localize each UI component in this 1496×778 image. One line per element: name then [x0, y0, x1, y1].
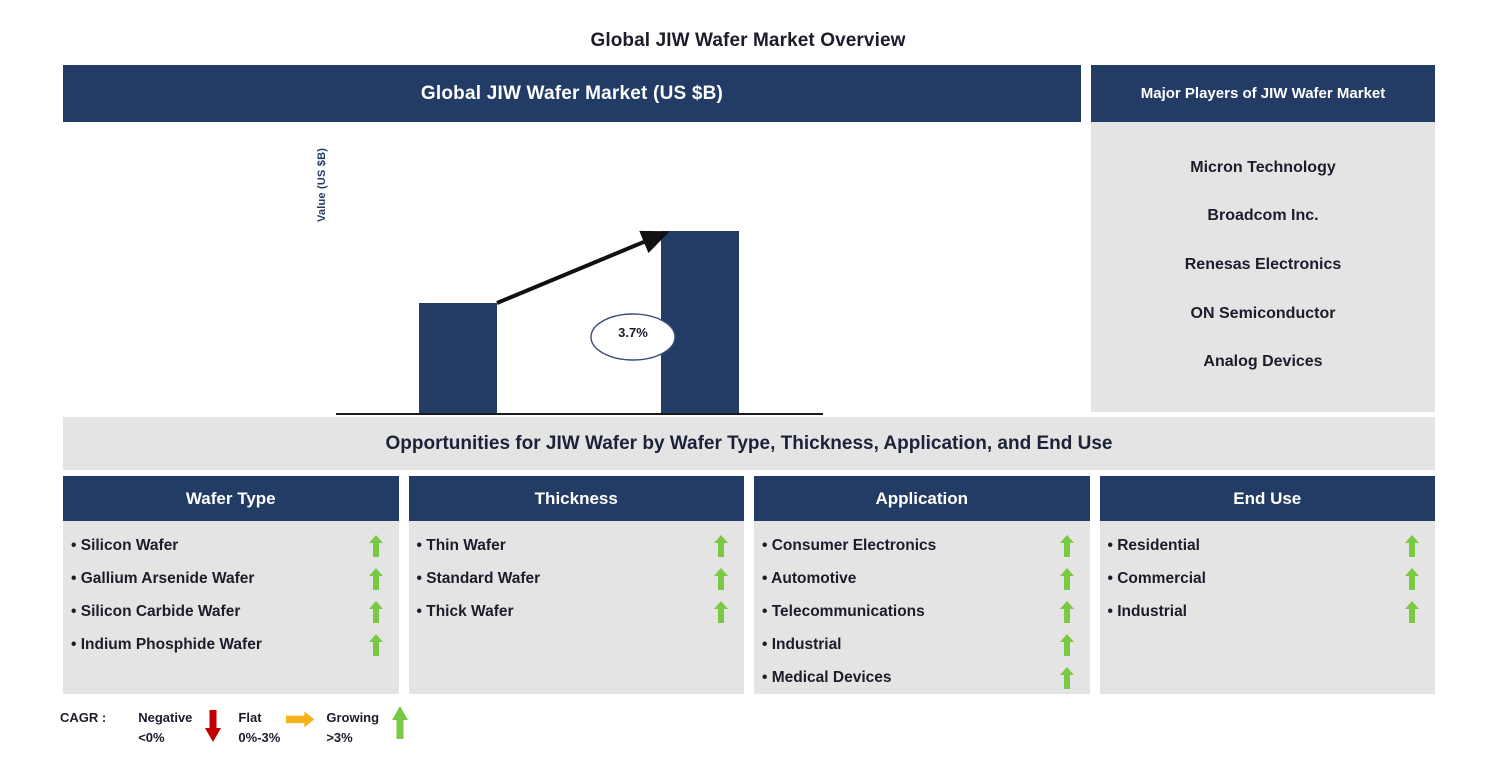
legend-entry-text: Growing >3%: [326, 706, 379, 748]
list-item: • Commercial: [1108, 562, 1424, 595]
legend-entry-negative: Negative <0%: [138, 706, 234, 748]
list-item: • Silicon Carbide Wafer: [71, 595, 387, 628]
segment-columns: Wafer Type • Silicon Wafer • Gallium Ars…: [63, 476, 1435, 694]
arrow-up-icon: [1060, 634, 1074, 656]
bar-2025: [419, 303, 497, 413]
legend-entry-name: Negative: [138, 708, 192, 728]
legend-entry-text: Negative <0%: [138, 706, 192, 748]
arrow-up-icon: [369, 634, 383, 656]
cagr-legend: CAGR : Negative <0% Flat 0%-3% Growing >…: [60, 706, 425, 748]
segment-item-list: • Consumer Electronics • Automotive • Te…: [754, 521, 1090, 694]
segment-item-label: • Silicon Carbide Wafer: [71, 595, 240, 628]
segment-header: End Use: [1100, 476, 1436, 521]
list-item: Renesas Electronics: [1185, 256, 1342, 274]
arrow-down-icon: [198, 706, 228, 742]
list-item: • Industrial: [1108, 595, 1424, 628]
legend-entry-growing: Growing >3%: [326, 706, 421, 748]
legend-entry-name: Growing: [326, 708, 379, 728]
arrow-up-icon: [1060, 568, 1074, 590]
segment-item-label: • Standard Wafer: [417, 562, 541, 595]
list-item: • Telecommunications: [762, 595, 1078, 628]
segment-item-label: • Automotive: [762, 562, 856, 595]
segment-column-application: Application • Consumer Electronics • Aut…: [754, 476, 1090, 694]
segment-item-label: • Industrial: [762, 628, 842, 661]
segment-item-list: • Thin Wafer • Standard Wafer • Thick Wa…: [409, 521, 745, 694]
segment-item-label: • Thick Wafer: [417, 595, 514, 628]
list-item: ON Semiconductor: [1191, 305, 1336, 323]
legend-entry-range: 0%-3%: [238, 728, 280, 748]
arrow-up-icon: [714, 535, 728, 557]
segment-item-label: • Silicon Wafer: [71, 529, 178, 562]
segment-item-label: • Thin Wafer: [417, 529, 506, 562]
arrow-up-icon: [1060, 535, 1074, 557]
arrow-up-icon: [1405, 568, 1419, 590]
segment-column-end-use: End Use • Residential • Commercial • Ind…: [1100, 476, 1436, 694]
legend-entry-range: <0%: [138, 728, 192, 748]
legend-title: CAGR :: [60, 706, 106, 728]
arrow-up-icon: [1405, 601, 1419, 623]
list-item: Analog Devices: [1203, 353, 1322, 371]
list-item: • Industrial: [762, 628, 1078, 661]
segment-column-wafer-type: Wafer Type • Silicon Wafer • Gallium Ars…: [63, 476, 399, 694]
segment-item-label: • Medical Devices: [762, 661, 892, 694]
segment-item-label: • Commercial: [1108, 562, 1206, 595]
chart-y-axis-label: Value (US $B): [316, 148, 328, 222]
major-players-panel: Major Players of JIW Wafer Market Micron…: [1091, 65, 1435, 412]
bar-2031: [661, 231, 739, 413]
list-item: • Gallium Arsenide Wafer: [71, 562, 387, 595]
opportunities-band: Opportunities for JIW Wafer by Wafer Typ…: [63, 417, 1435, 470]
legend-entry-text: Flat 0%-3%: [238, 706, 280, 748]
segment-item-label: • Gallium Arsenide Wafer: [71, 562, 254, 595]
major-players-header: Major Players of JIW Wafer Market: [1091, 65, 1435, 122]
opportunities-title: Opportunities for JIW Wafer by Wafer Typ…: [385, 433, 1112, 455]
segment-header: Thickness: [409, 476, 745, 521]
segment-item-label: • Consumer Electronics: [762, 529, 936, 562]
arrow-up-icon: [1060, 601, 1074, 623]
segment-item-label: • Industrial: [1108, 595, 1188, 628]
major-players-list: Micron Technology Broadcom Inc. Renesas …: [1091, 122, 1435, 412]
arrow-up-icon: [369, 535, 383, 557]
legend-entry-flat: Flat 0%-3%: [238, 706, 322, 748]
arrow-up-icon: [714, 568, 728, 590]
arrow-up-icon: [714, 601, 728, 623]
list-item: • Medical Devices: [762, 661, 1078, 694]
cagr-callout-value: 3.7%: [591, 325, 675, 340]
arrow-right-icon: [286, 706, 316, 742]
market-panel-header: Global JIW Wafer Market (US $B): [63, 65, 1081, 122]
segment-item-label: • Residential: [1108, 529, 1200, 562]
list-item: • Silicon Wafer: [71, 529, 387, 562]
list-item: • Thick Wafer: [417, 595, 733, 628]
segment-item-label: • Telecommunications: [762, 595, 925, 628]
arrow-up-icon: [1405, 535, 1419, 557]
cagr-growth-arrow: [63, 122, 1081, 412]
chart-x-axis-line: [336, 413, 823, 415]
legend-entry-range: >3%: [326, 728, 379, 748]
list-item: • Consumer Electronics: [762, 529, 1078, 562]
list-item: • Thin Wafer: [417, 529, 733, 562]
legend-entry-name: Flat: [238, 708, 280, 728]
list-item: • Residential: [1108, 529, 1424, 562]
segment-item-label: • Indium Phosphide Wafer: [71, 628, 262, 661]
arrow-up-icon: [385, 706, 415, 742]
list-item: • Standard Wafer: [417, 562, 733, 595]
arrow-up-icon: [369, 601, 383, 623]
segment-column-thickness: Thickness • Thin Wafer • Standard Wafer …: [409, 476, 745, 694]
market-panel-body: Value (US $B) 2025 2031 3.7% Source : Lu…: [63, 122, 1081, 412]
market-bar-chart: Value (US $B) 2025 2031 3.7%: [63, 122, 1081, 412]
list-item: Micron Technology: [1190, 159, 1335, 177]
segment-item-list: • Silicon Wafer • Gallium Arsenide Wafer…: [63, 521, 399, 694]
list-item: Broadcom Inc.: [1207, 207, 1318, 225]
arrow-up-icon: [1060, 667, 1074, 689]
segment-header: Application: [754, 476, 1090, 521]
market-overview-panel: Global JIW Wafer Market (US $B) Value (U…: [63, 65, 1081, 412]
arrow-up-icon: [369, 568, 383, 590]
list-item: • Indium Phosphide Wafer: [71, 628, 387, 661]
list-item: • Automotive: [762, 562, 1078, 595]
segment-item-list: • Residential • Commercial • Industrial: [1100, 521, 1436, 694]
segment-header: Wafer Type: [63, 476, 399, 521]
page-title: Global JIW Wafer Market Overview: [0, 30, 1496, 52]
